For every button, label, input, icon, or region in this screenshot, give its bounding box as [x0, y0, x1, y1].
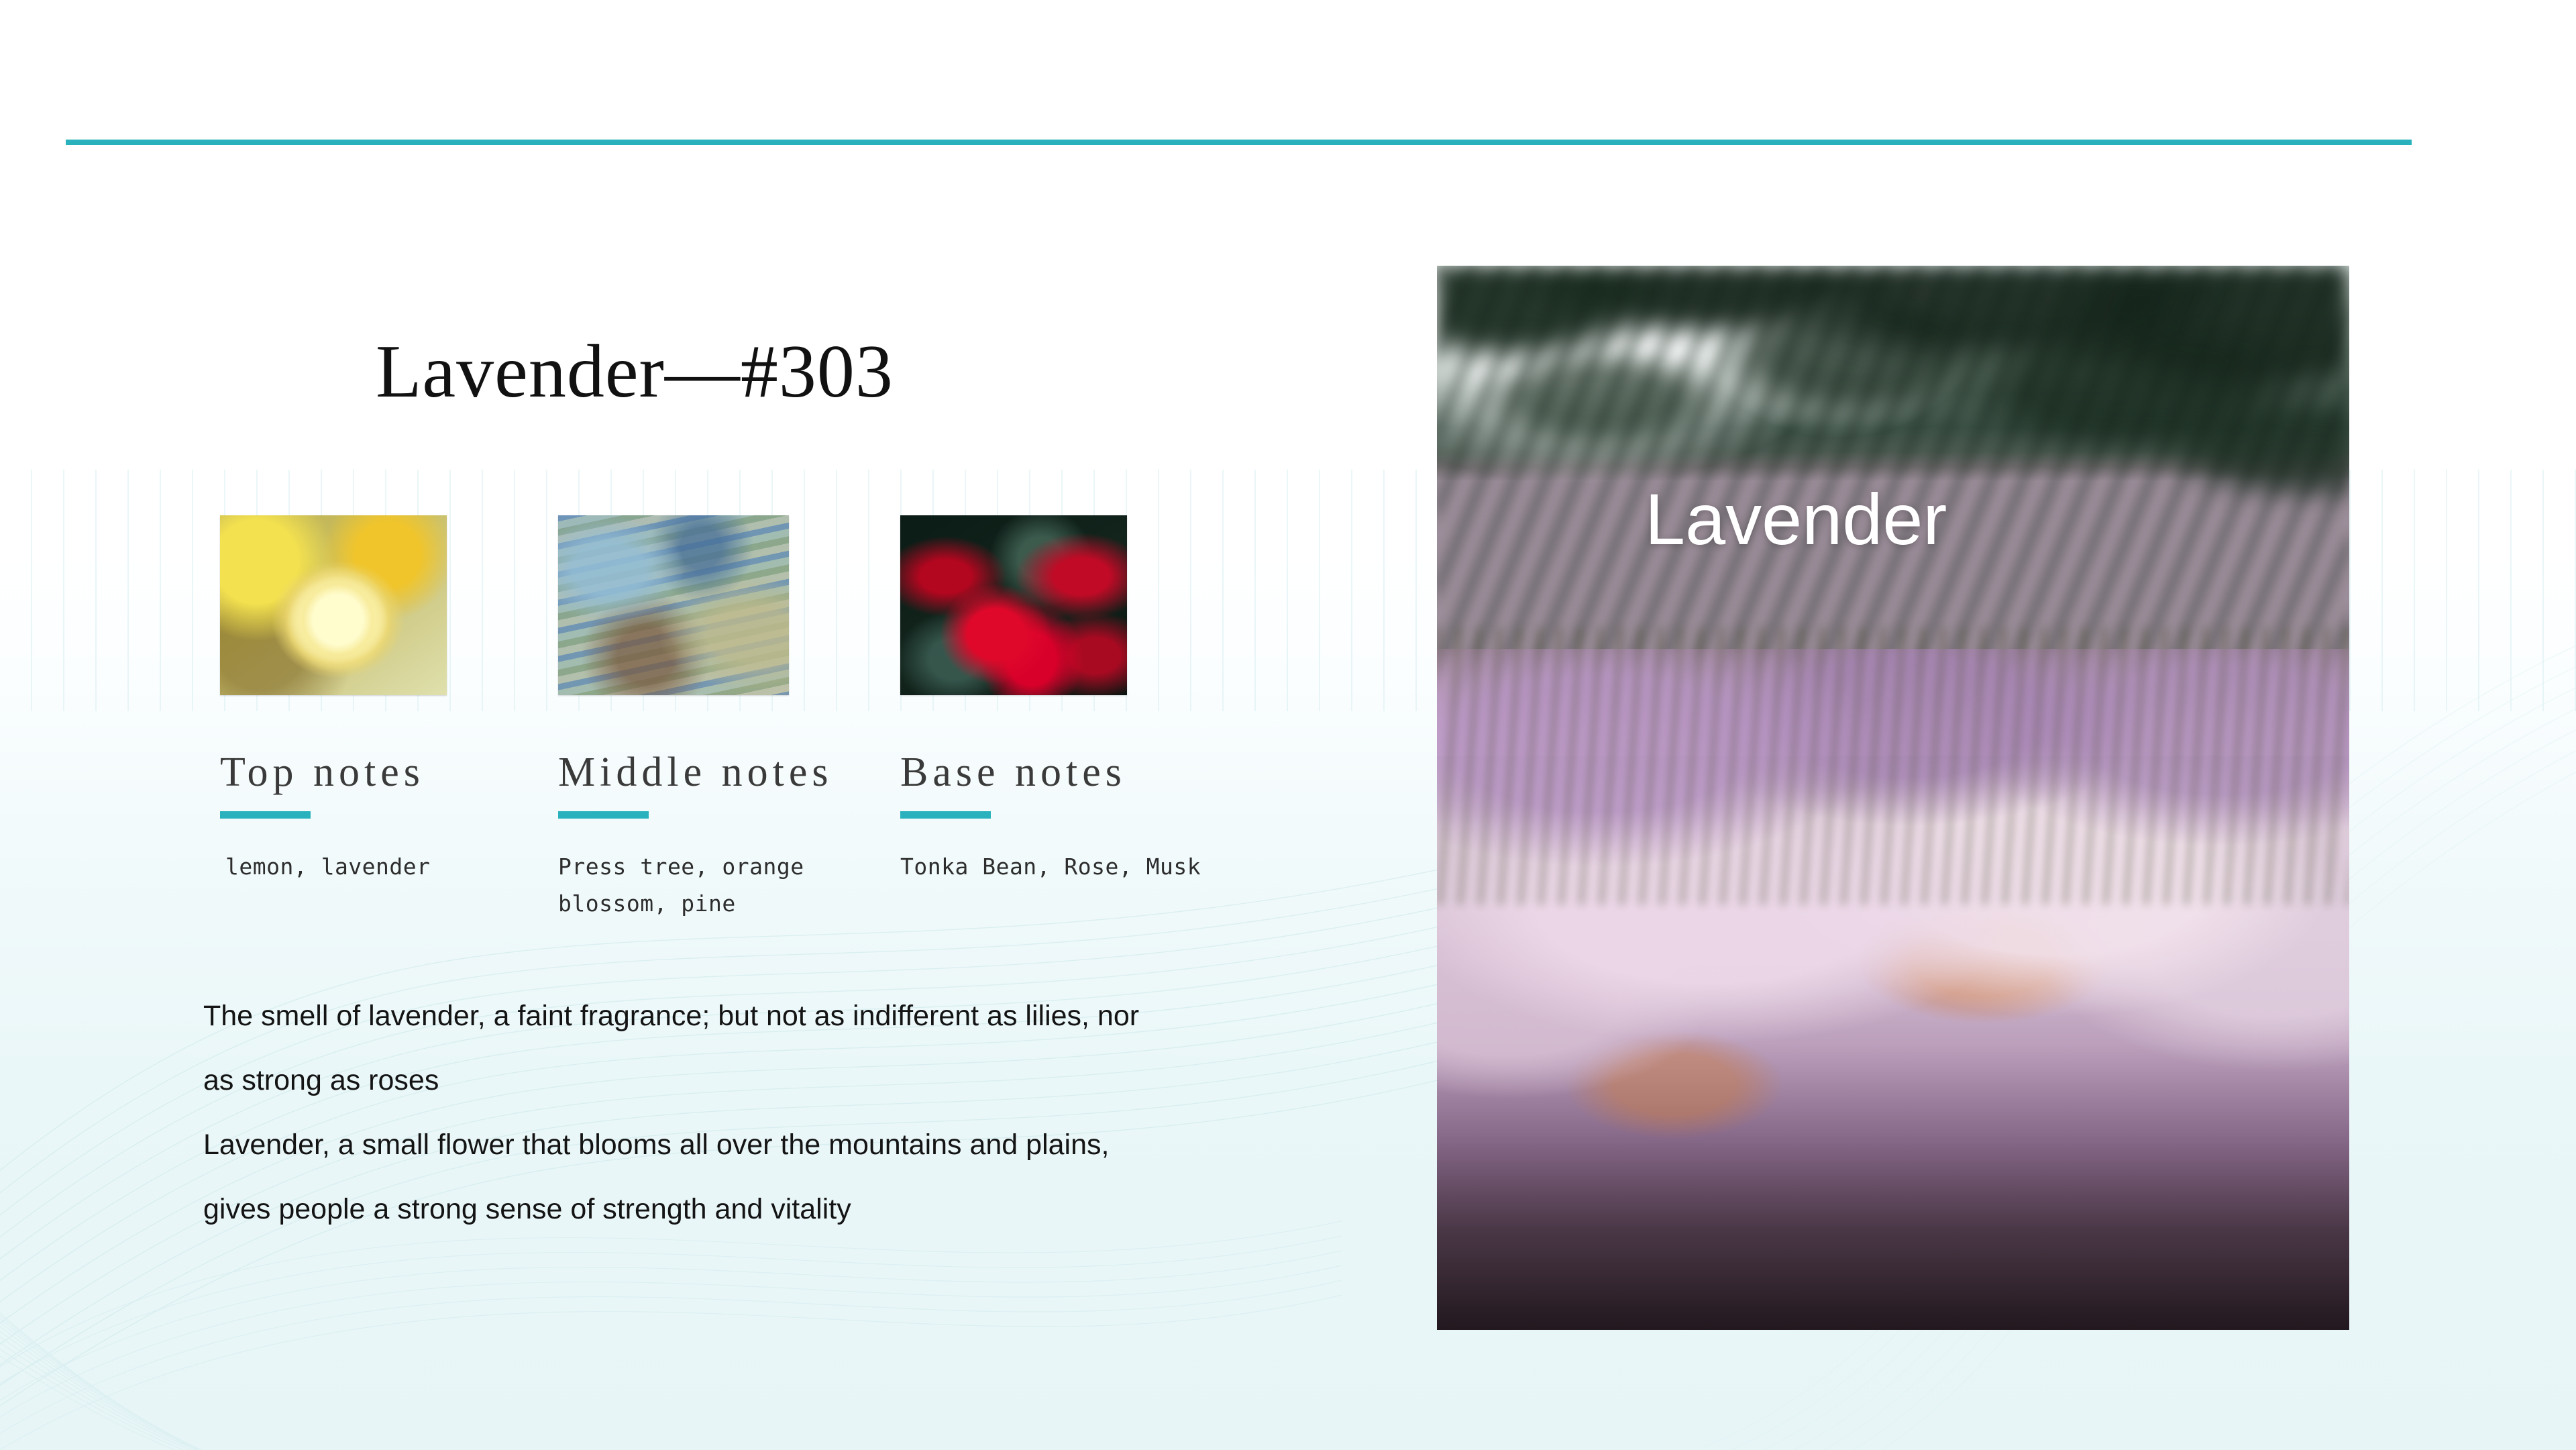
- note-heading-middle: Middle notes: [558, 752, 840, 793]
- pine-branch-photo: [558, 515, 789, 695]
- slide-canvas: Lavender—#303 Top notes lemon, lavender …: [0, 0, 2576, 1450]
- description-line-4: gives people a strong sense of strength …: [203, 1177, 1250, 1241]
- lavender-field-photo: Lavender: [1437, 266, 2349, 1330]
- red-roses-photo: [900, 515, 1127, 695]
- note-items-middle: Press tree, orange blossom, pine: [558, 848, 840, 923]
- note-column-top: Top notes lemon, lavender: [220, 515, 494, 885]
- photo-stem-texture-layer: [1437, 627, 2349, 904]
- description-line-1: The smell of lavender, a faint fragrance…: [203, 984, 1250, 1048]
- note-accent-bar-base: [900, 811, 991, 819]
- hero-photo-caption: Lavender: [1645, 483, 1947, 556]
- header-divider-rule: [66, 140, 2412, 145]
- description-line-3: Lavender, a small flower that blooms all…: [203, 1112, 1250, 1177]
- note-items-base: Tonka Bean, Rose, Musk: [900, 848, 1249, 885]
- description-line-2: as strong as roses: [203, 1048, 1250, 1112]
- note-accent-bar-top: [220, 811, 311, 819]
- lemon-photo: [220, 515, 447, 695]
- note-heading-base: Base notes: [900, 752, 1249, 793]
- description-paragraph: The smell of lavender, a faint fragrance…: [203, 984, 1250, 1241]
- page-title: Lavender—#303: [376, 334, 894, 409]
- note-column-middle: Middle notes Press tree, orange blossom,…: [558, 515, 840, 923]
- note-heading-top: Top notes: [220, 752, 494, 793]
- note-accent-bar-middle: [558, 811, 649, 819]
- note-items-top: lemon, lavender: [225, 848, 494, 885]
- note-column-base: Base notes Tonka Bean, Rose, Musk: [900, 515, 1249, 885]
